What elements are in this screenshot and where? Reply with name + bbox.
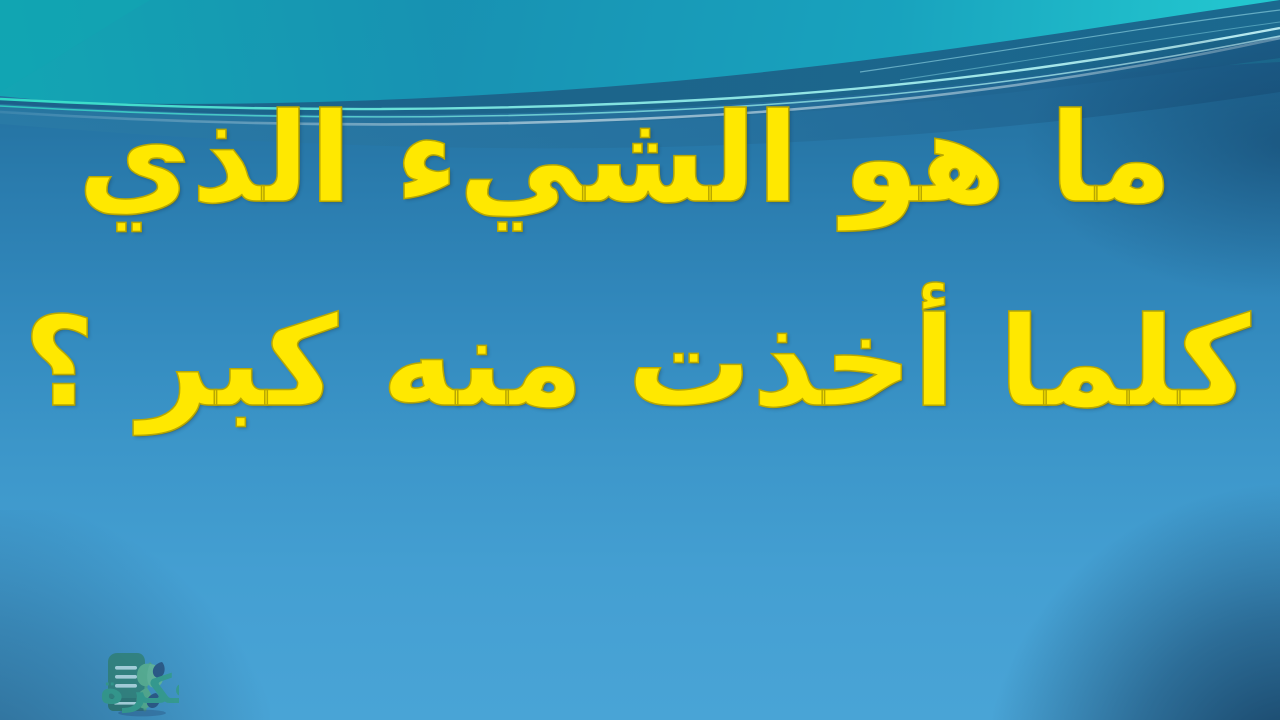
riddle-text-block: ما هو الشيء الذي كلما أخذت منه كبر ؟ <box>0 96 1280 427</box>
slide-canvas: ما هو الشيء الذي كلما أخذت منه كبر ؟ <box>0 0 1280 720</box>
riddle-line-2: كلما أخذت منه كبر ؟ <box>0 300 1280 426</box>
riddle-line-1: ما هو الشيء الذي <box>0 96 1280 222</box>
